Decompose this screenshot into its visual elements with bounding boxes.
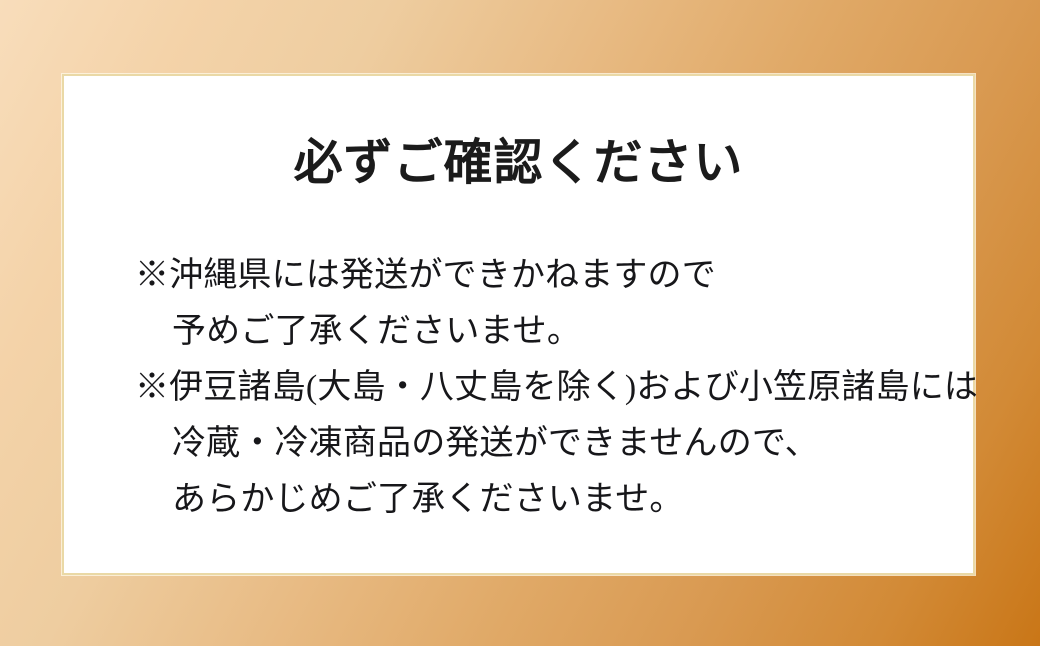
notice-line: 冷蔵・冷凍商品の発送ができませんので、 (135, 416, 965, 472)
shipping-notice-banner: 必ずご確認ください ※沖縄県には発送ができかねますので 予めご了承くださいませ。… (0, 0, 1040, 646)
notice-line: 予めご了承くださいませ。 (135, 304, 965, 360)
notice-line: あらかじめご了承くださいませ。 (135, 472, 965, 528)
notice-line: ※沖縄県には発送ができかねますので (135, 248, 965, 304)
notice-title: 必ずご確認ください (64, 138, 973, 187)
notice-line: ※伊豆諸島(大島・八丈島を除く)および小笠原諸島には (135, 360, 965, 416)
notice-body: ※沖縄県には発送ができかねますので 予めご了承くださいませ。 ※伊豆諸島(大島・… (135, 248, 965, 528)
notice-card: 必ずご確認ください ※沖縄県には発送ができかねますので 予めご了承くださいませ。… (62, 74, 975, 575)
